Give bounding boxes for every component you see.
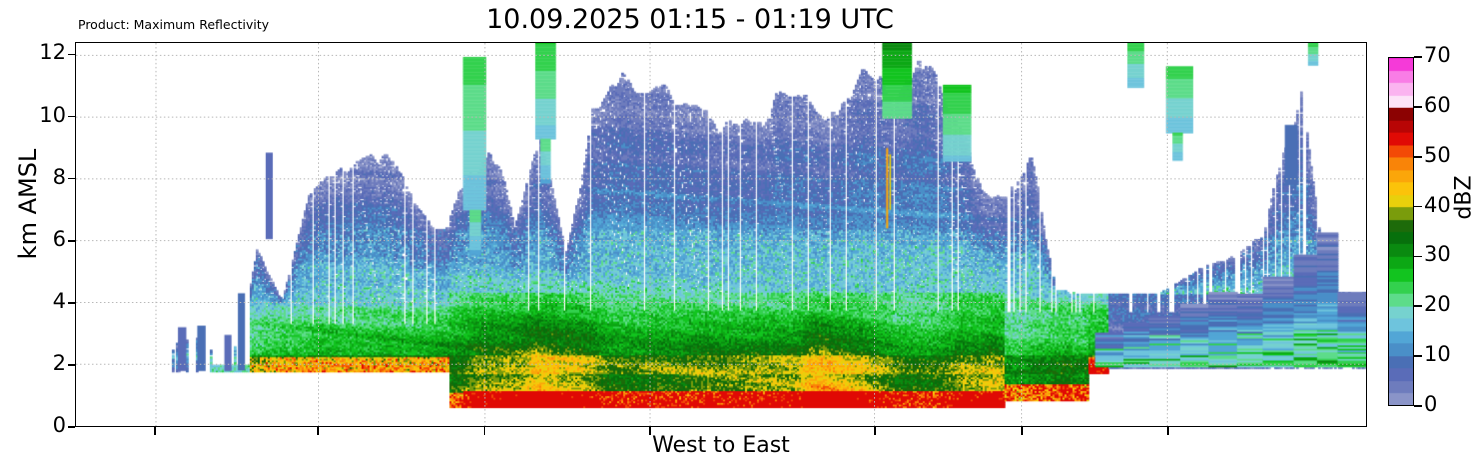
colorbar-tick-60: 60	[1424, 93, 1451, 117]
y-axis-tick-mark	[68, 54, 75, 56]
colorbar-tick-mark-10	[1414, 355, 1422, 357]
y-axis-label: km AMSL	[14, 114, 42, 294]
y-axis-tick-2: 2	[20, 351, 66, 375]
y-axis-tick-mark	[68, 178, 75, 180]
colorbar-tick-20: 20	[1424, 292, 1451, 316]
colorbar-tick-70: 70	[1424, 43, 1451, 67]
colorbar-tick-0: 0	[1424, 392, 1437, 416]
y-axis-tick-mark	[68, 364, 75, 366]
axis-tick-layer: 024681012	[0, 0, 1482, 470]
colorbar-tick-50: 50	[1424, 143, 1451, 167]
colorbar-tick-mark-70	[1414, 56, 1422, 58]
colorbar-tick-mark-30	[1414, 256, 1422, 258]
colorbar-tick-40: 40	[1424, 193, 1451, 217]
colorbar-gradient	[1389, 58, 1413, 405]
colorbar-tick-mark-20	[1414, 305, 1422, 307]
colorbar-tick-mark-50	[1414, 156, 1422, 158]
colorbar-tick-10: 10	[1424, 342, 1451, 366]
y-axis-tick-mark	[68, 302, 75, 304]
y-axis-tick-mark	[68, 116, 75, 118]
colorbar-tick-mark-0	[1414, 405, 1422, 407]
y-axis-tick-mark	[68, 240, 75, 242]
x-axis-label: West to East	[75, 433, 1367, 458]
radar-cross-section-figure: 10.09.2025 01:15 - 01:19 UTC Product: Ma…	[0, 0, 1482, 470]
colorbar	[1388, 57, 1414, 406]
colorbar-tick-30: 30	[1424, 242, 1451, 266]
colorbar-tick-mark-60	[1414, 106, 1422, 108]
y-axis-tick-12: 12	[20, 40, 66, 64]
y-axis-tick-0: 0	[20, 413, 66, 437]
colorbar-tick-mark-40	[1414, 206, 1422, 208]
y-axis-tick-mark	[68, 426, 75, 428]
colorbar-label: dBZ	[1452, 138, 1477, 258]
